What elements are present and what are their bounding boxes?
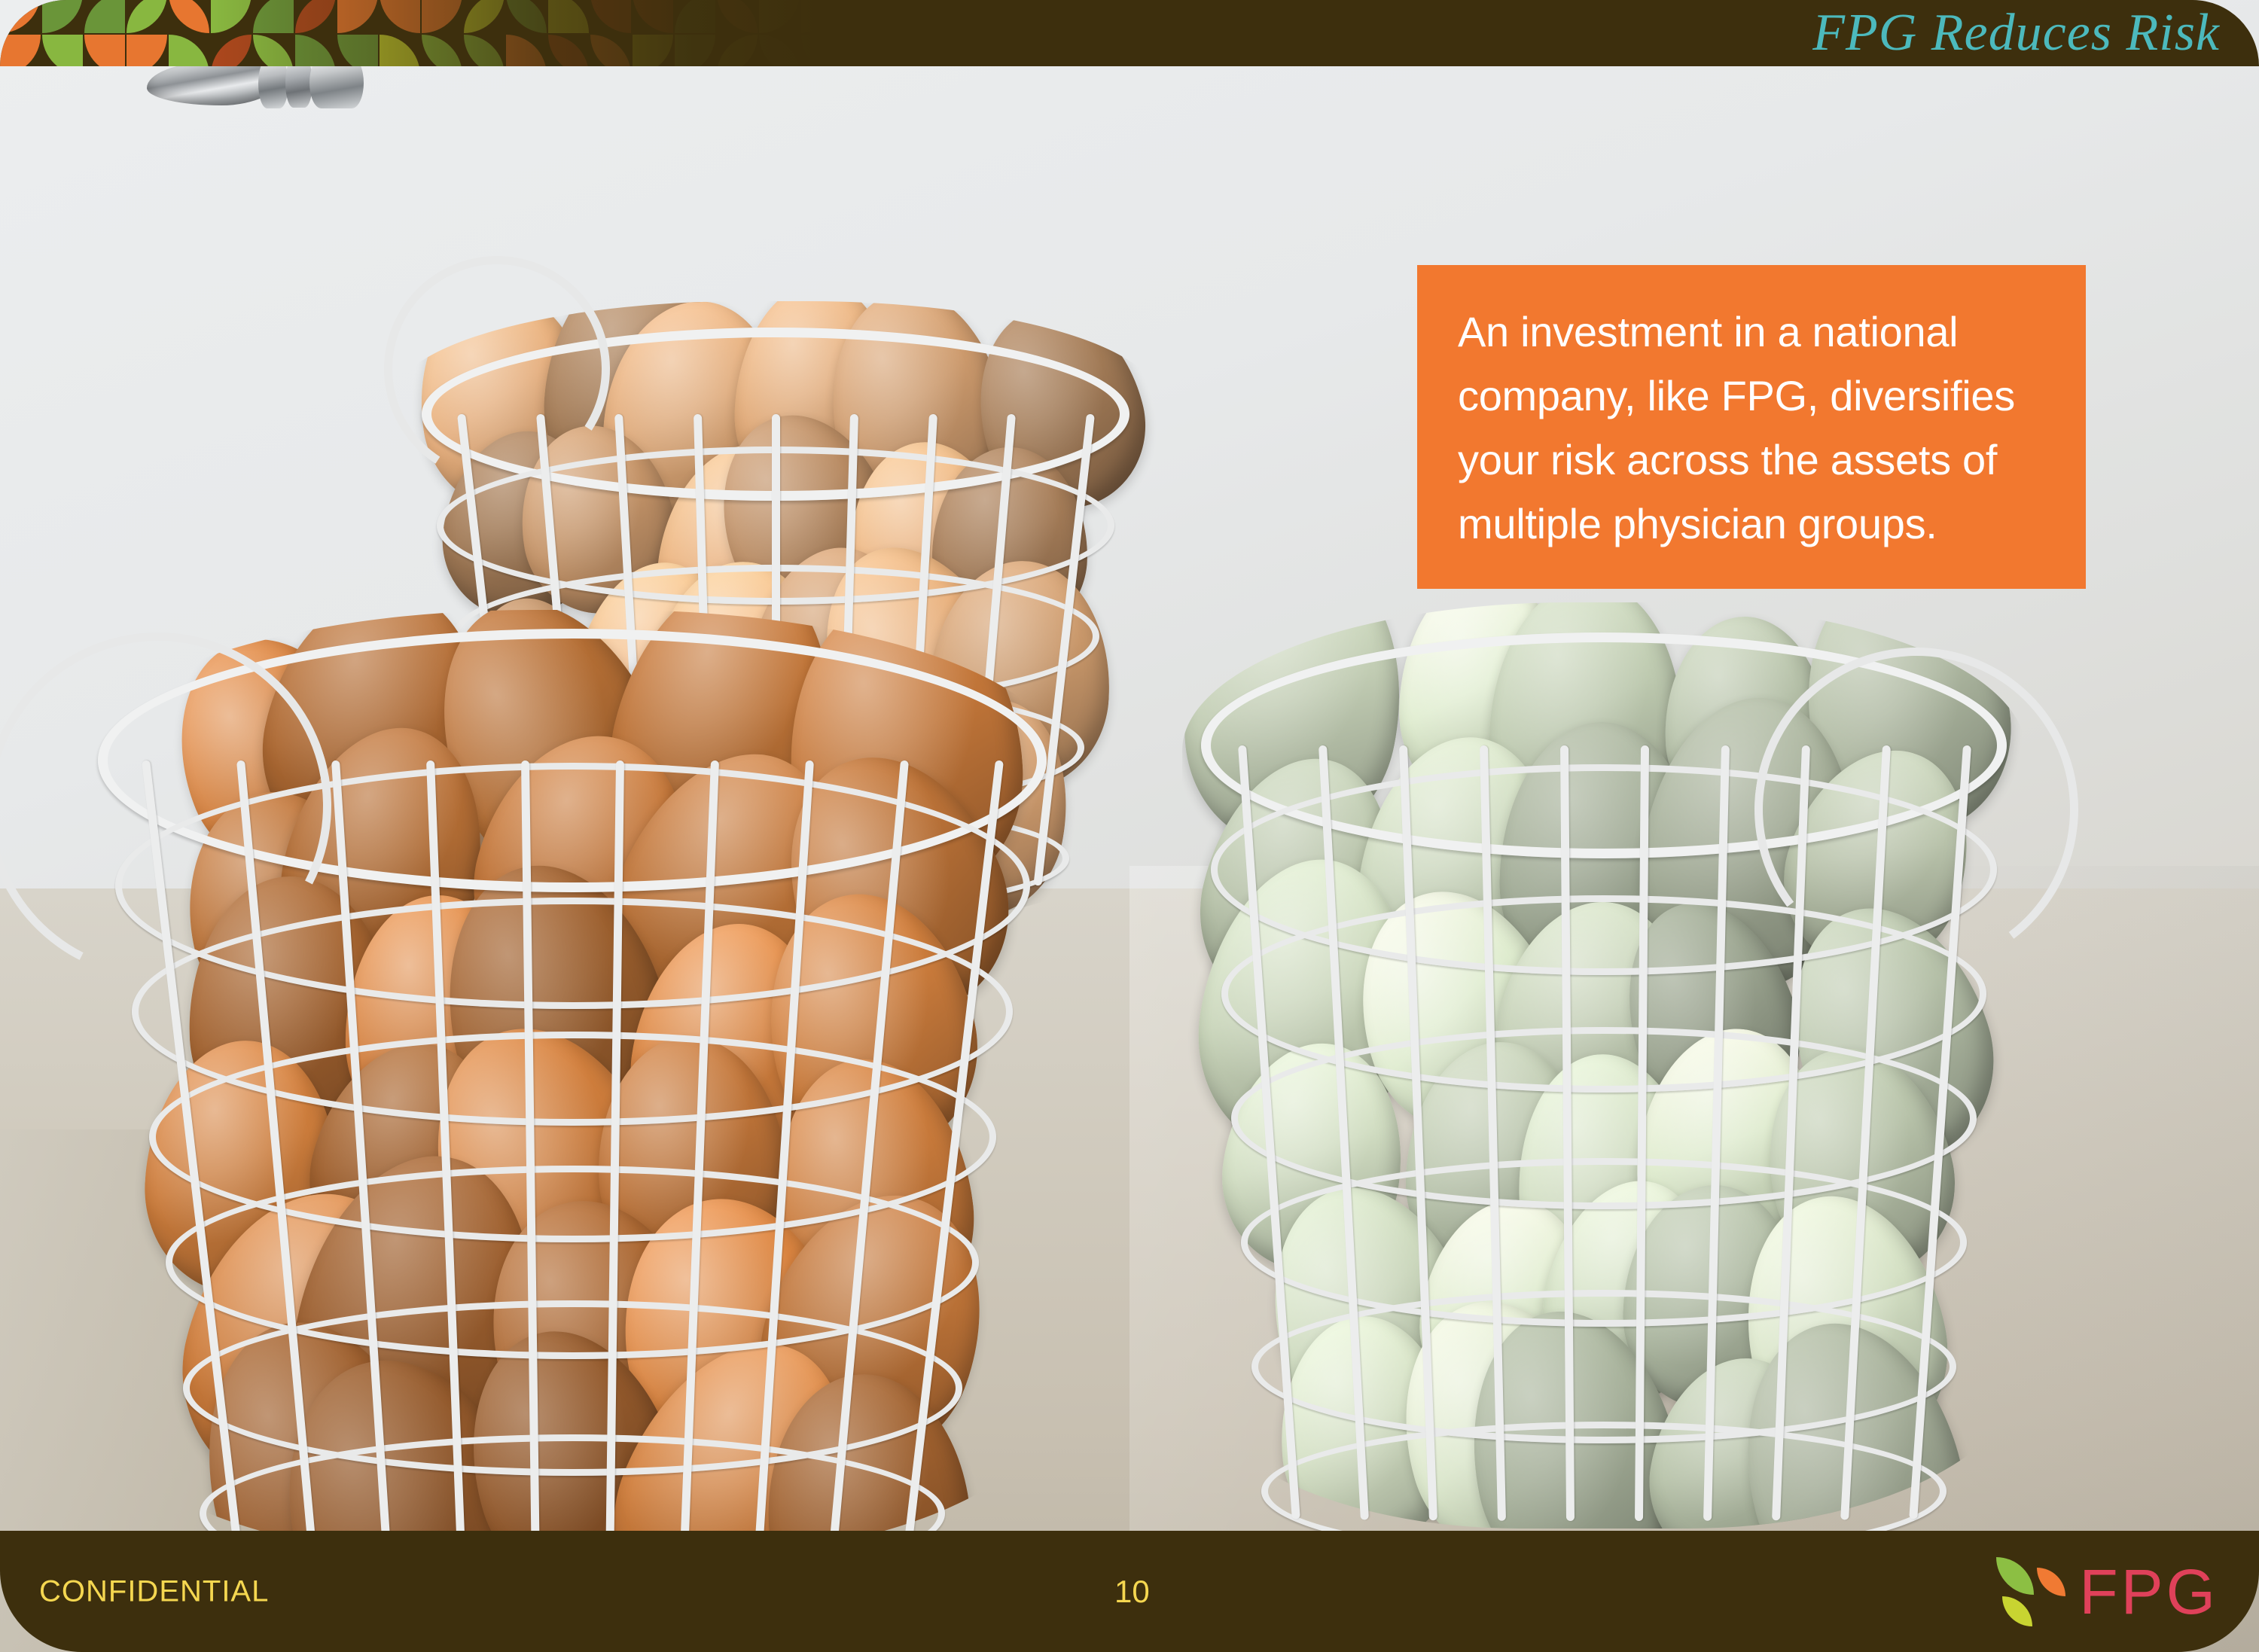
right-basket-green-eggs — [1182, 602, 2026, 1529]
fpg-logo: FPG — [1996, 1557, 2218, 1626]
right-basket-eggs — [1182, 602, 2026, 1529]
page-number: 10 — [1114, 1574, 1150, 1610]
fpg-leaf-2 — [2037, 1568, 2065, 1596]
fpg-leaf-1 — [1996, 1557, 2034, 1595]
fpg-wordmark: FPG — [2079, 1560, 2218, 1623]
left-basket-brown-eggs — [83, 610, 1062, 1559]
presentation-slide: FPG Reduces Risk An investment in a nati… — [0, 0, 2259, 1652]
slide-header-bar: FPG Reduces Risk — [0, 0, 2259, 66]
right-basket-body — [1182, 602, 2026, 1529]
fpg-leaf-3 — [2002, 1596, 2032, 1626]
pattern-fade-overlay — [0, 0, 889, 66]
callout-box: An investment in a national company, lik… — [1417, 265, 2086, 589]
slide-background-photo — [0, 0, 2259, 1652]
page-title: FPG Reduces Risk — [1812, 3, 2220, 63]
left-basket-body — [83, 610, 1062, 1559]
callout-text: An investment in a national company, lik… — [1458, 300, 2045, 556]
confidential-label: CONFIDENTIAL — [39, 1574, 269, 1608]
slide-footer-bar: CONFIDENTIAL 10 FPG — [0, 1531, 2259, 1652]
left-basket-eggs — [83, 610, 1062, 1559]
fpg-leaf-mark-icon — [1996, 1557, 2065, 1626]
